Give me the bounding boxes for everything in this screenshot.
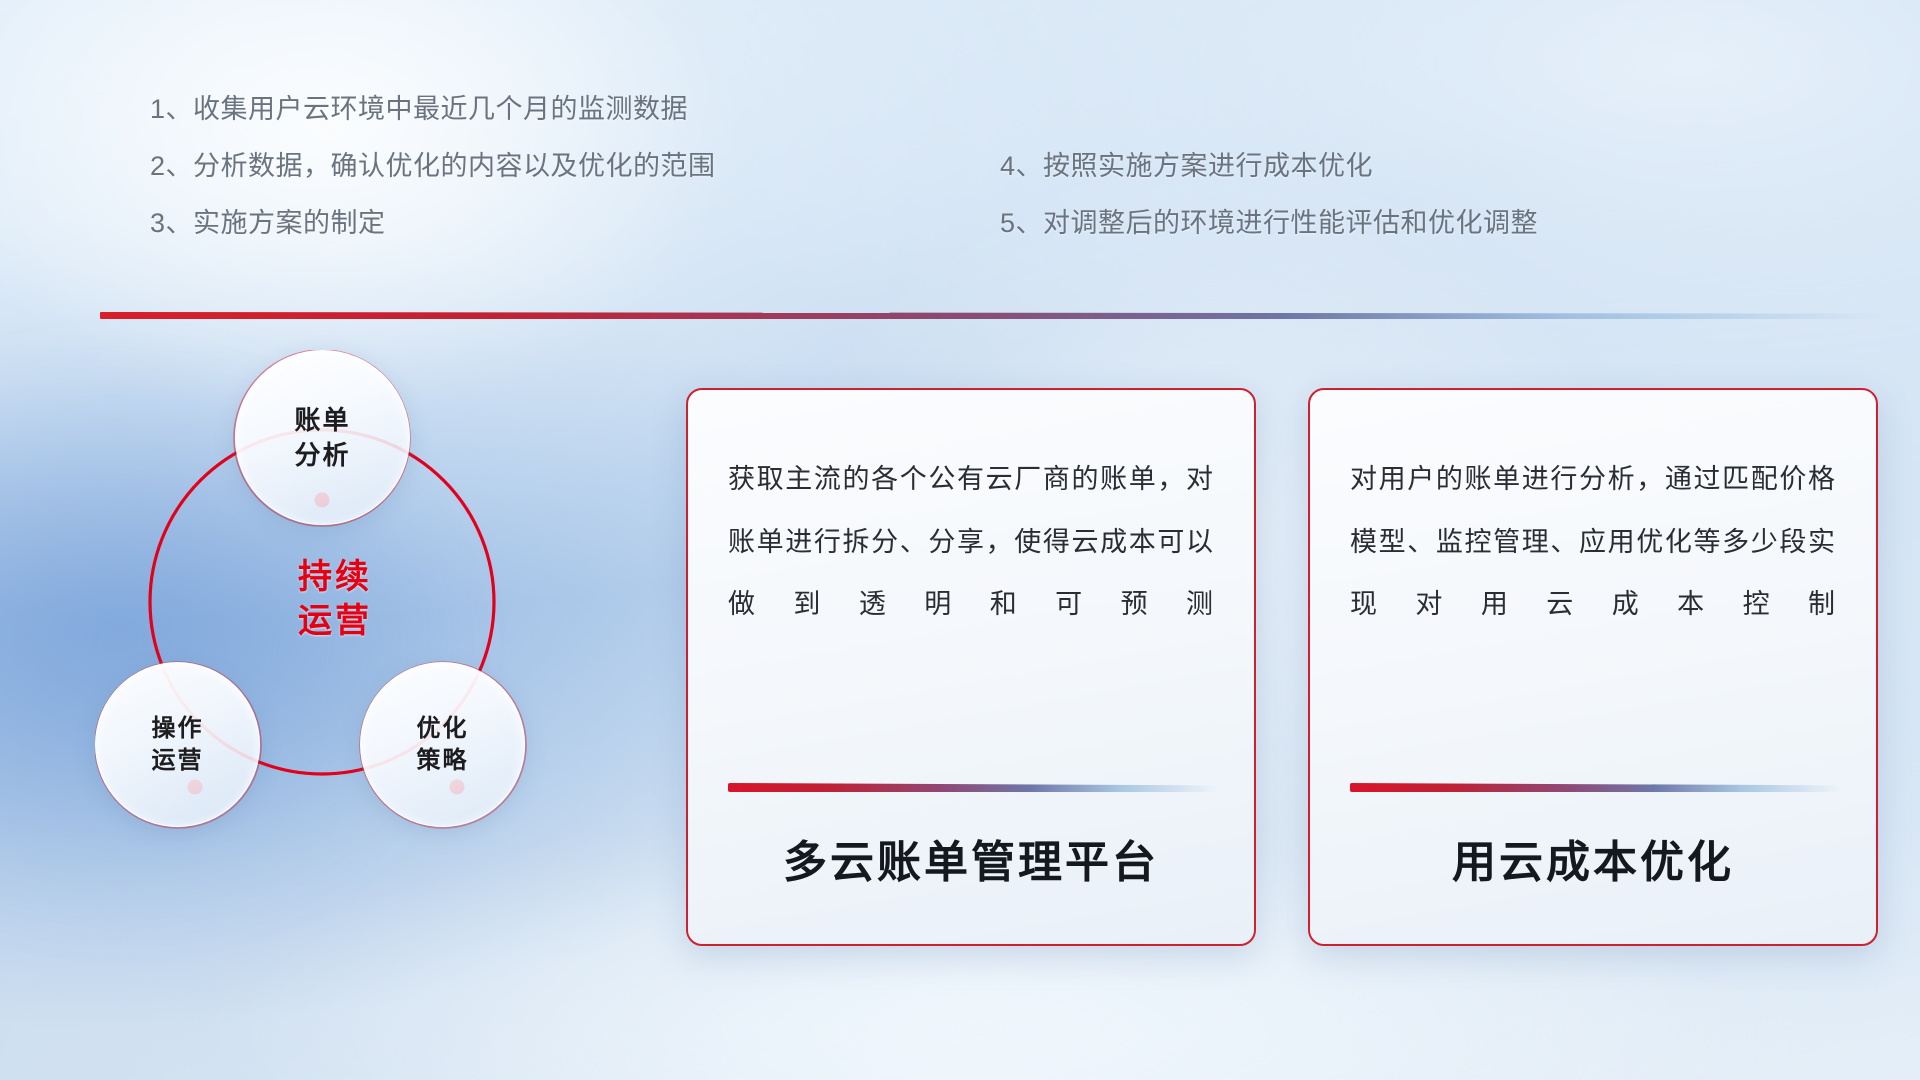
step-item-1: 1、收集用户云环境中最近几个月的监测数据 — [150, 96, 810, 123]
step-item-4: 4、按照实施方案进行成本优化 — [1000, 153, 1760, 180]
step-item-2: 2、分析数据，确认优化的内容以及优化的范围 — [150, 153, 810, 180]
card-accent-rule — [1350, 783, 1840, 792]
center-label-line2: 运营 — [255, 599, 415, 643]
card-multicloud-billing-platform[interactable]: 获取主流的各个公有云厂商的账单，对账单进行拆分、分享，使得云成本可以做到透明和可… — [686, 388, 1256, 946]
bubble-label-line2: 策略 — [417, 745, 469, 777]
step-item-3: 3、实施方案的制定 — [150, 210, 810, 237]
diagram-center-label: 持续 运营 — [255, 555, 415, 643]
bubble-label-line2: 运营 — [152, 745, 204, 777]
card-body-text: 获取主流的各个公有云厂商的账单，对账单进行拆分、分享，使得云成本可以做到透明和可… — [728, 448, 1214, 636]
center-label-line1: 持续 — [255, 555, 415, 599]
bubble-label-line2: 分析 — [294, 438, 350, 472]
step-item-5: 5、对调整后的环境进行性能评估和优化调整 — [1000, 210, 1760, 237]
steps-right-column: 4、按照实施方案进行成本优化 5、对调整后的环境进行性能评估和优化调整 — [1000, 153, 1760, 267]
diagram-bubble-optimization-policy[interactable]: 优化 策略 — [360, 662, 525, 827]
card-title: 用云成本优化 — [1310, 826, 1876, 890]
steps-left-column: 1、收集用户云环境中最近几个月的监测数据 2、分析数据，确认优化的内容以及优化的… — [150, 96, 810, 267]
card-title: 多云账单管理平台 — [688, 826, 1254, 890]
continuous-operation-diagram: 账单 分析 操作 运营 优化 策略 持续 运营 — [95, 350, 635, 910]
card-accent-rule — [728, 783, 1218, 792]
card-body-text: 对用户的账单进行分析，通过匹配价格模型、监控管理、应用优化等多少段实现对用云成本… — [1350, 448, 1836, 636]
card-cloud-cost-optimization[interactable]: 对用户的账单进行分析，通过匹配价格模型、监控管理、应用优化等多少段实现对用云成本… — [1308, 388, 1878, 946]
diagram-bubble-operation-ops[interactable]: 操作 运营 — [95, 662, 260, 827]
bubble-label-line1: 操作 — [152, 713, 204, 745]
bubble-label-line1: 账单 — [294, 403, 350, 437]
diagram-bubble-bill-analysis[interactable]: 账单 分析 — [235, 350, 410, 525]
bubble-label-line1: 优化 — [417, 713, 469, 745]
